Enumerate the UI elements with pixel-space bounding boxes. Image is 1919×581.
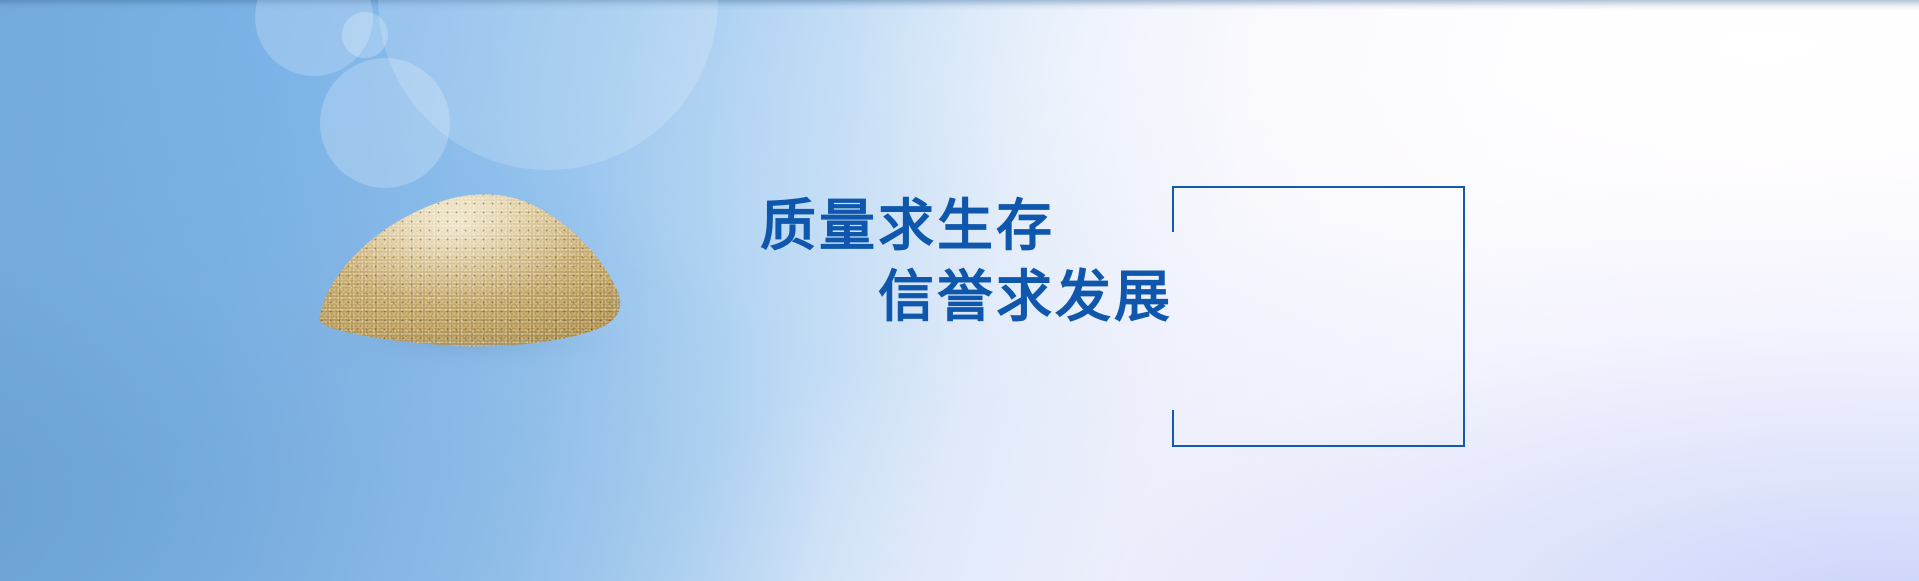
sand-pile-edge-blend: [312, 188, 622, 348]
slogan-block: 质量求生存 信誉求发展: [760, 192, 1280, 333]
sand-pile-body: [312, 188, 622, 348]
hero-banner: 质量求生存 信誉求发展: [0, 0, 1919, 581]
quartz-sand-pile-image: [250, 150, 670, 380]
slogan-line-1: 质量求生存: [760, 192, 1280, 263]
slogan-line-2: 信誉求发展: [760, 263, 1280, 334]
bubble-small-icon: [342, 12, 388, 58]
